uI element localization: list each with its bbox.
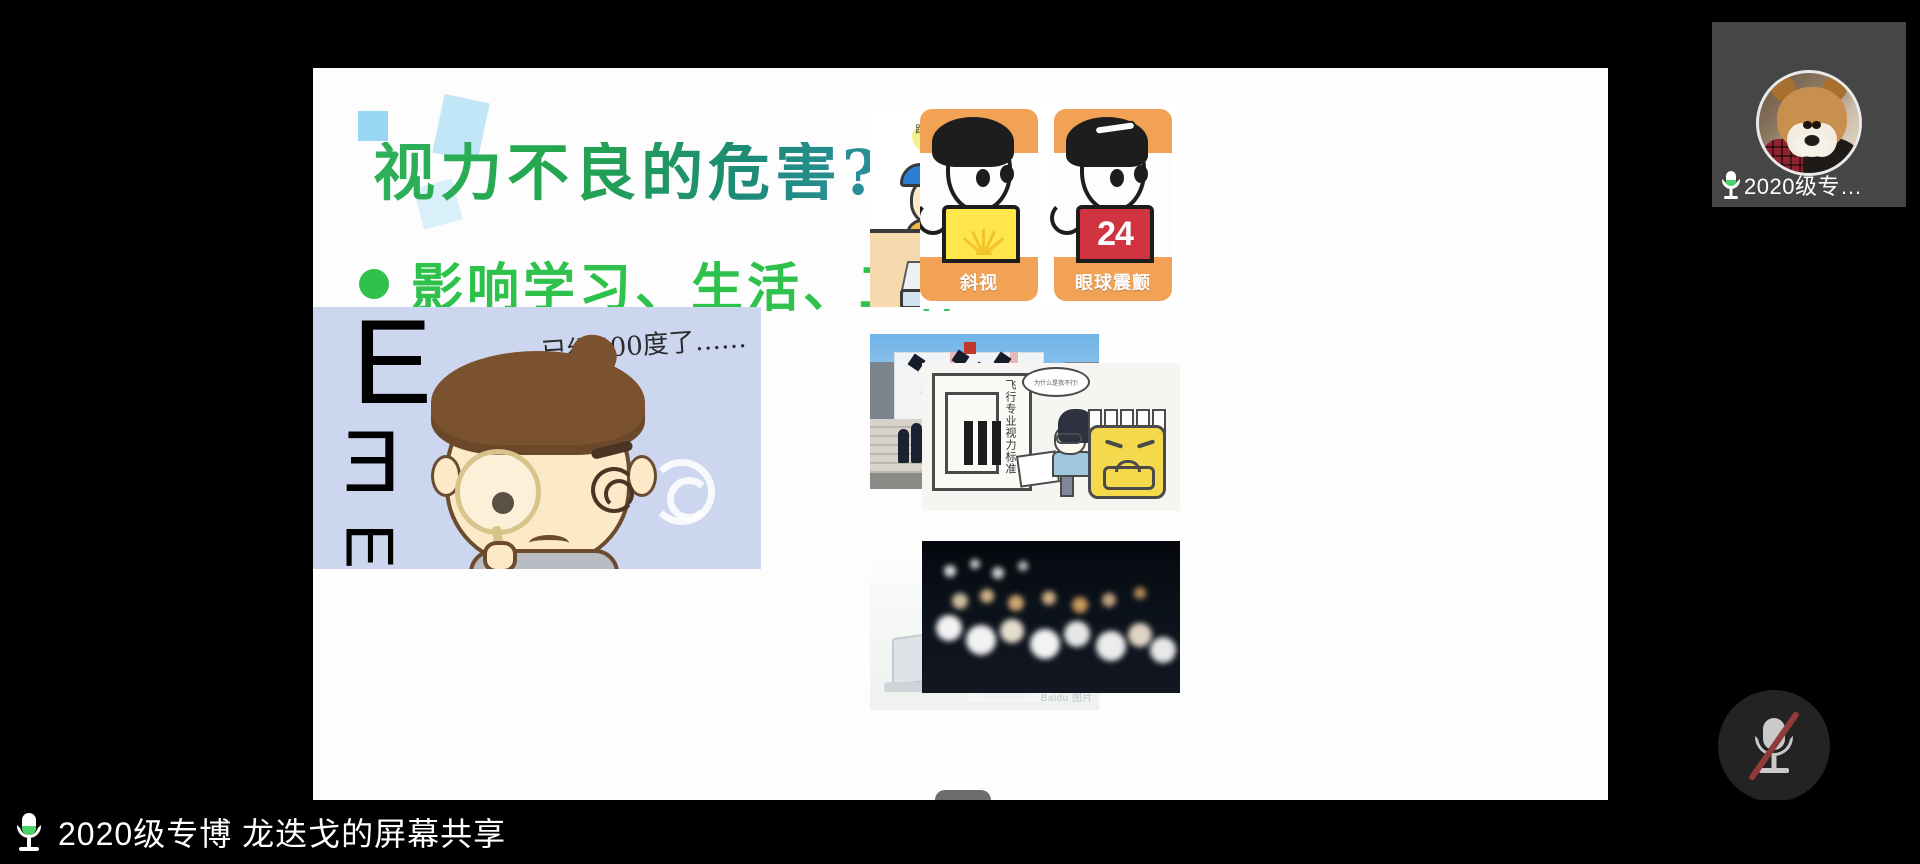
participant-video-tile[interactable]: 2020级专… [1712,22,1906,207]
screen-share-label: 2020级专博 龙迭戈的屏幕共享 [58,809,506,855]
tile-footer: 2020级专… [1720,169,1862,201]
vision-standard-sign [932,373,1032,491]
mute-button[interactable] [1718,690,1830,802]
participant-name: 2020级专… [1744,169,1862,201]
sad-backpack [1088,425,1166,499]
bullet-dot-icon [359,269,389,299]
avatar [1756,70,1862,176]
eye-condition-cards: 斜视 24 眼球震颤 [920,101,1178,309]
pilot-vision-standard-cartoon: 飞行专业视力标准 为什么是我不行! [922,363,1180,511]
eye-chart-letter-2: E [343,413,400,512]
eye-condition-card-strabismus: 斜视 [920,109,1038,301]
dog-avatar-icon [1759,73,1859,173]
card-label-strabismus: 斜视 [920,269,1038,295]
mic-icon [14,813,44,851]
eye-condition-card-nystagmus: 24 眼球震颤 [1054,109,1172,301]
vision-standard-sign-text: 飞行专业视力标准 [994,379,1016,475]
mic-icon [1720,171,1742,199]
slide-title: 视力不良的危害? [373,142,883,204]
zoom-meeting-screen-share: 视力不良的危害? 影响学习、生活、工作 E E E 已经500度了…… [0,0,1920,864]
blurry-night-traffic-photo [922,541,1180,693]
card-shirt-number: 24 [1080,215,1150,254]
screen-share-bar: 2020级专博 龙迭戈的屏幕共享 [0,800,1920,864]
eye-chart-letter-3: E [331,523,409,568]
thought-bubble: 为什么是我不行! [1022,367,1090,397]
dizzy-swirl-icon [649,459,715,525]
card-label-nystagmus: 眼球震颤 [1054,269,1172,295]
boy-with-magnifier-figure [417,345,667,569]
shared-slide[interactable]: 视力不良的危害? 影响学习、生活、工作 E E E 已经500度了…… [313,68,1608,800]
eye-chart-boy-cartoon: E E E 已经500度了…… [313,307,761,569]
